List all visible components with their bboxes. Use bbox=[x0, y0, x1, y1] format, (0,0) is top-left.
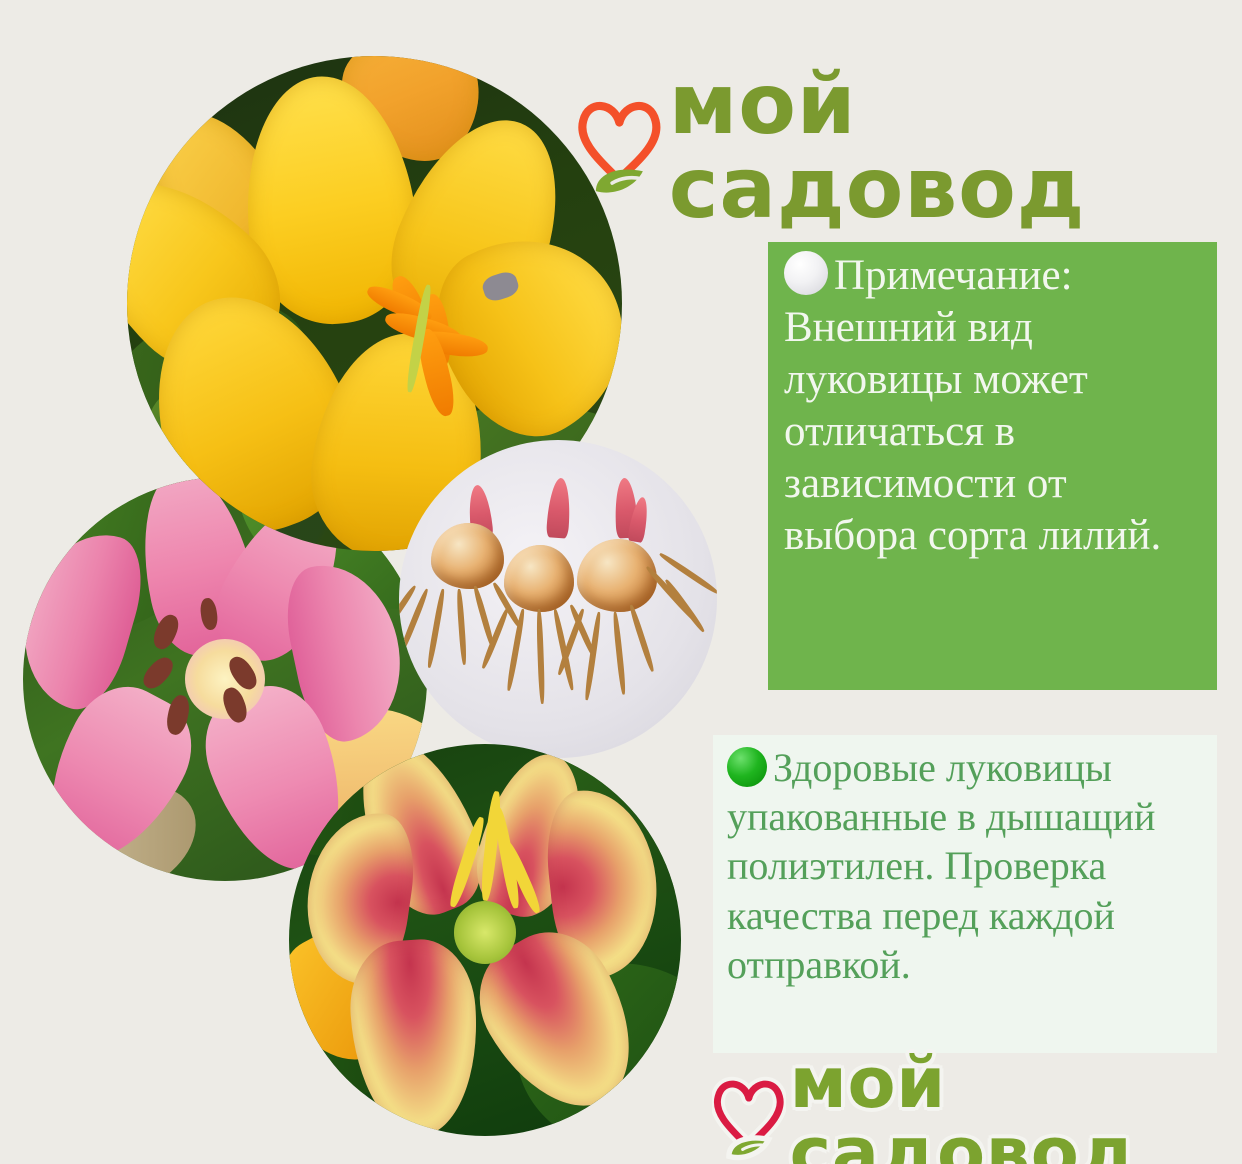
note-secondary-text-block: Здоровые луковицы упакованные в дышащий … bbox=[727, 743, 1207, 989]
heart-leaf-icon bbox=[576, 90, 663, 202]
note-card-secondary: Здоровые луковицы упакованные в дышащий … bbox=[713, 735, 1217, 1053]
photo-lily-bulbs bbox=[399, 440, 717, 758]
note-primary-text: Примечание: Внешний вид луковицы может о… bbox=[784, 252, 1161, 559]
photo-red-yellow-lily bbox=[289, 744, 681, 1136]
promo-banner: мой садовод Примечание: Внешний вид луко… bbox=[0, 0, 1242, 1164]
brand-logo-top[interactable]: мой садовод bbox=[576, 62, 1242, 230]
brand-name-bottom: мой садовод bbox=[790, 1048, 1242, 1164]
heart-leaf-icon bbox=[712, 1068, 786, 1164]
note-secondary-text: Здоровые луковицы упакованные в дышащий … bbox=[727, 745, 1155, 987]
brand-logo-bottom[interactable]: мой садовод bbox=[712, 1048, 1242, 1164]
note-primary-text-block: Примечание: Внешний вид луковицы может о… bbox=[784, 250, 1203, 562]
green-circle-icon bbox=[727, 747, 767, 787]
brand-name-top: мой садовод bbox=[669, 62, 1242, 230]
white-circle-icon bbox=[784, 251, 828, 295]
note-card-primary: Примечание: Внешний вид луковицы может о… bbox=[768, 242, 1217, 690]
